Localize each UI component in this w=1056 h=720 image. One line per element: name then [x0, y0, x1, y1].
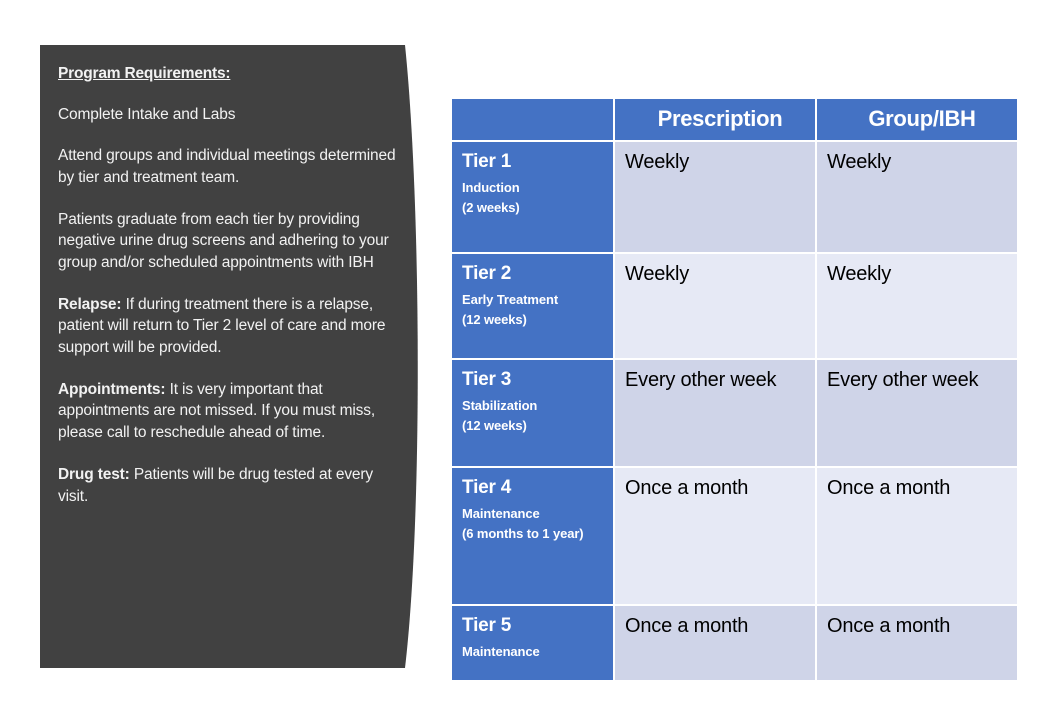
- program-requirements-heading: Program Requirements:: [58, 65, 399, 84]
- requirement-paragraph-drug-test: Drug test: Patients will be drug tested …: [58, 464, 399, 507]
- table-row: Tier 5 Maintenance Once a month Once a m…: [452, 606, 1017, 680]
- tier-phase-1: Induction: [462, 178, 605, 198]
- tier-cell-2: Tier 2 Early Treatment (12 weeks): [452, 254, 613, 358]
- table-row: Tier 2 Early Treatment (12 weeks) Weekly…: [452, 254, 1017, 358]
- table-header: Prescription Group/IBH: [452, 99, 1017, 140]
- program-requirements-content: Program Requirements: Complete Intake an…: [40, 45, 425, 507]
- tier-name-4: Tier 4: [462, 476, 605, 500]
- prescription-cell-2: Weekly: [615, 254, 815, 358]
- requirement-text-3: Patients graduate from each tier by prov…: [58, 211, 389, 271]
- program-requirements-panel: Program Requirements: Complete Intake an…: [40, 45, 425, 668]
- tier-phase-5: Maintenance: [462, 642, 605, 662]
- prescription-cell-1: Weekly: [615, 142, 815, 252]
- tier-schedule-table: Prescription Group/IBH Tier 1 Induction …: [450, 97, 1019, 682]
- tier-name-1: Tier 1: [462, 150, 605, 174]
- group-ibh-cell-3: Every other week: [817, 360, 1017, 466]
- table-row: Tier 4 Maintenance (6 months to 1 year) …: [452, 468, 1017, 604]
- requirement-text-2: Attend groups and individual meetings de…: [58, 147, 395, 186]
- table-row: Tier 1 Induction (2 weeks) Weekly Weekly: [452, 142, 1017, 252]
- tier-duration-4: (6 months to 1 year): [462, 524, 605, 544]
- tier-cell-5: Tier 5 Maintenance: [452, 606, 613, 680]
- tier-cell-4: Tier 4 Maintenance (6 months to 1 year): [452, 468, 613, 604]
- table-header-group-ibh: Group/IBH: [817, 99, 1017, 140]
- group-ibh-cell-2: Weekly: [817, 254, 1017, 358]
- requirement-text-1: Complete Intake and Labs: [58, 106, 235, 123]
- requirement-paragraph-3: Patients graduate from each tier by prov…: [58, 209, 399, 274]
- table-header-prescription: Prescription: [615, 99, 815, 140]
- requirement-paragraph-relapse: Relapse: If during treatment there is a …: [58, 294, 399, 359]
- tier-phase-3: Stabilization: [462, 396, 605, 416]
- tier-detail-5: Maintenance: [462, 642, 605, 662]
- group-ibh-cell-1: Weekly: [817, 142, 1017, 252]
- prescription-cell-5: Once a month: [615, 606, 815, 680]
- tier-duration-1: (2 weeks): [462, 198, 605, 218]
- tier-duration-3: (12 weeks): [462, 416, 605, 436]
- requirement-paragraph-2: Attend groups and individual meetings de…: [58, 145, 399, 188]
- tier-detail-1: Induction (2 weeks): [462, 178, 605, 218]
- requirement-lead-drug-test: Drug test:: [58, 466, 130, 483]
- group-ibh-cell-5: Once a month: [817, 606, 1017, 680]
- requirement-paragraph-1: Complete Intake and Labs: [58, 104, 399, 126]
- tier-detail-3: Stabilization (12 weeks): [462, 396, 605, 436]
- tier-name-3: Tier 3: [462, 368, 605, 392]
- table-header-corner: [452, 99, 613, 140]
- tier-name-5: Tier 5: [462, 614, 605, 638]
- table-row: Tier 3 Stabilization (12 weeks) Every ot…: [452, 360, 1017, 466]
- requirement-paragraph-appointments: Appointments: It is very important that …: [58, 379, 399, 444]
- tier-detail-4: Maintenance (6 months to 1 year): [462, 504, 605, 544]
- prescription-cell-3: Every other week: [615, 360, 815, 466]
- tier-phase-4: Maintenance: [462, 504, 605, 524]
- tier-cell-1: Tier 1 Induction (2 weeks): [452, 142, 613, 252]
- tier-detail-2: Early Treatment (12 weeks): [462, 290, 605, 330]
- tier-duration-2: (12 weeks): [462, 310, 605, 330]
- table-header-row: Prescription Group/IBH: [452, 99, 1017, 140]
- prescription-cell-4: Once a month: [615, 468, 815, 604]
- table-body: Tier 1 Induction (2 weeks) Weekly Weekly…: [452, 142, 1017, 680]
- tier-phase-2: Early Treatment: [462, 290, 605, 310]
- requirement-lead-relapse: Relapse:: [58, 296, 121, 313]
- requirement-lead-appointments: Appointments:: [58, 381, 165, 398]
- tier-name-2: Tier 2: [462, 262, 605, 286]
- group-ibh-cell-4: Once a month: [817, 468, 1017, 604]
- tier-cell-3: Tier 3 Stabilization (12 weeks): [452, 360, 613, 466]
